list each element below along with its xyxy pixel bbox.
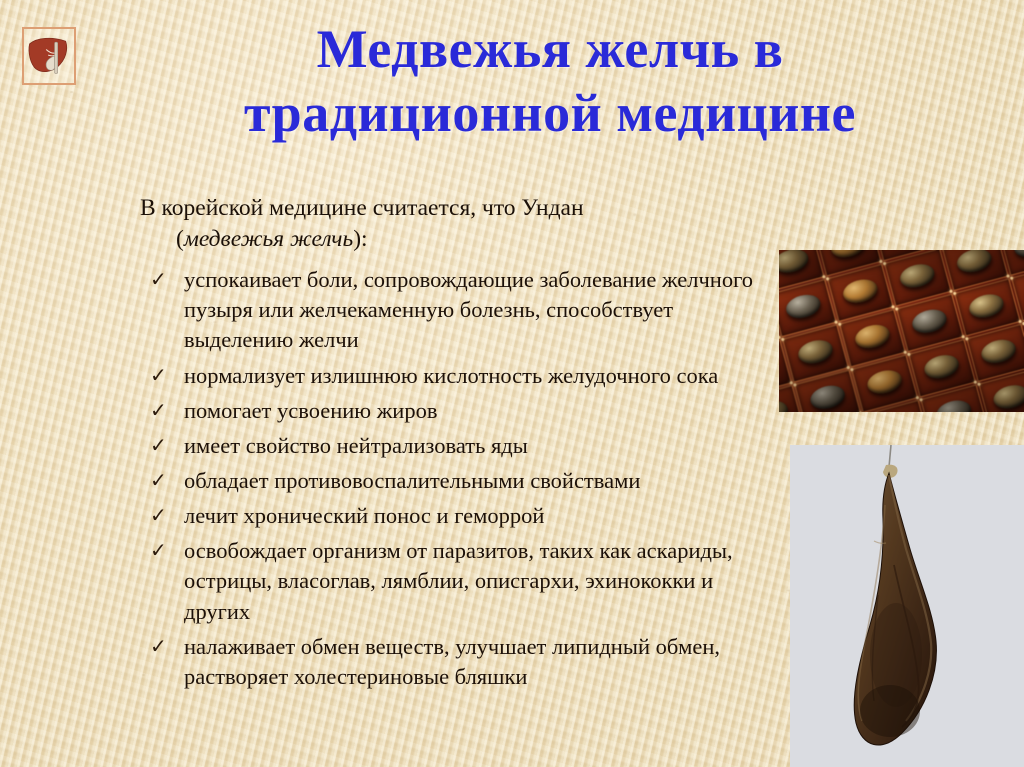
intro-paragraph: В корейской медицине считается, что Унда… — [140, 193, 765, 254]
check-icon: ✓ — [150, 467, 167, 494]
list-item-text: налаживает обмен веществ, улучшает липид… — [184, 632, 765, 692]
dried-bear-gallbladder-photo — [790, 445, 1024, 767]
list-item: ✓ лечит хронический понос и геморрой — [140, 501, 765, 531]
slide-content: В корейской медицине считается, что Унда… — [140, 193, 765, 697]
intro-paren-open: ( — [176, 226, 184, 252]
list-item-text: имеет свойство нейтрализовать яды — [184, 431, 765, 461]
title-line-1: Медвежья желчь в — [150, 18, 950, 82]
check-icon: ✓ — [150, 633, 167, 660]
intro-line-1: В корейской медицине считается, что Унда… — [140, 195, 584, 221]
list-item-text: нормализует излишнюю кислотность желудоч… — [184, 361, 765, 391]
check-icon: ✓ — [150, 362, 167, 389]
list-item-text: обладает противовоспалительными свойства… — [184, 466, 765, 496]
list-item-text: лечит хронический понос и геморрой — [184, 501, 765, 531]
check-icon: ✓ — [150, 502, 167, 529]
cabinet-drawer-grid — [779, 250, 1024, 412]
list-item-text: освобождает организм от паразитов, таких… — [184, 536, 765, 626]
check-icon: ✓ — [150, 537, 167, 564]
intro-emphasis: медвежья желчь — [184, 226, 353, 252]
list-item: ✓ налаживает обмен веществ, улучшает лип… — [140, 632, 765, 692]
slide: Медвежья желчь в традиционной медицине В… — [0, 0, 1024, 767]
traditional-medicine-cabinet-photo — [779, 250, 1024, 412]
check-icon: ✓ — [150, 432, 167, 459]
list-item-text: помогает усвоению жиров — [184, 396, 765, 426]
intro-line-2: (медвежья желчь): — [140, 224, 765, 255]
check-icon: ✓ — [150, 266, 167, 293]
check-icon: ✓ — [150, 397, 167, 424]
list-item: ✓ обладает противовоспалительными свойст… — [140, 466, 765, 496]
title-line-2: традиционной медицине — [150, 82, 950, 146]
list-item: ✓ помогает усвоению жиров — [140, 396, 765, 426]
list-item-text: успокаивает боли, сопровождающие заболев… — [184, 265, 765, 355]
benefits-list: ✓ успокаивает боли, сопровождающие забол… — [140, 265, 765, 692]
list-item: ✓ имеет свойство нейтрализовать яды — [140, 431, 765, 461]
list-item: ✓ нормализует излишнюю кислотность желуд… — [140, 361, 765, 391]
liver-gallbladder-logo — [22, 27, 76, 85]
list-item: ✓ освобождает организм от паразитов, так… — [140, 536, 765, 626]
list-item: ✓ успокаивает боли, сопровождающие забол… — [140, 265, 765, 355]
page-title: Медвежья желчь в традиционной медицине — [150, 18, 950, 145]
intro-paren-close: ): — [353, 226, 367, 252]
